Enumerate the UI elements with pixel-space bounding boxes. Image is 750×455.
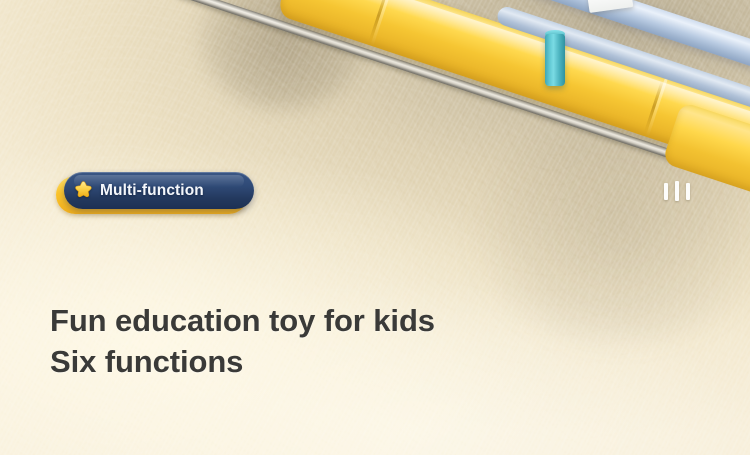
multi-function-badge[interactable]: Multi-function — [56, 172, 256, 216]
badge-label: Multi-function — [100, 182, 204, 200]
headline-line-1: Fun education toy for kids — [50, 301, 610, 342]
star-icon — [73, 180, 94, 201]
headline-line-2: Six functions — [50, 342, 610, 383]
product-promo-banner: Multi-function Fun education toy for kid… — [0, 0, 750, 455]
headline: Fun education toy for kids Six functions — [50, 301, 610, 382]
background-texture-speckle — [0, 0, 750, 455]
badge-pill: Multi-function — [64, 172, 254, 209]
